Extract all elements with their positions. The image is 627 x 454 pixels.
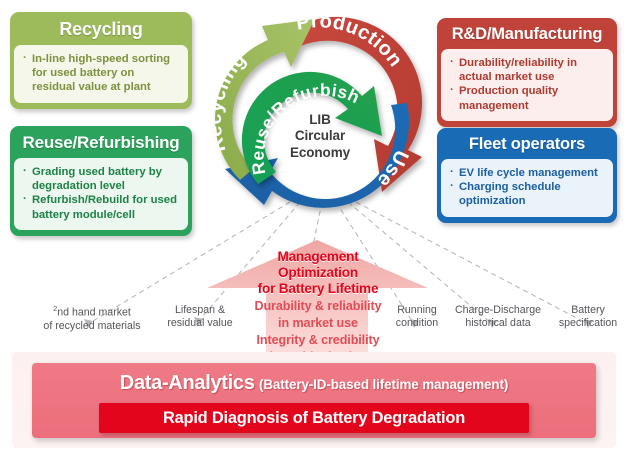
cycle-center-line-3: Economy (272, 145, 368, 161)
card-rnd-body: Durability/reliability in actual market … (441, 49, 613, 121)
card-recycling-header: Recycling (14, 16, 188, 45)
data-analytics-title: Data-Analytics (Battery-ID-based lifetim… (32, 372, 596, 395)
rapid-diagnosis-bar: Rapid Diagnosis of Battery Degradation (99, 403, 529, 433)
list-item: EV life cycle management (450, 166, 605, 180)
card-fleet-header: Fleet operators (441, 132, 613, 159)
card-rnd-manufacturing: R&D/Manufacturing Durability/reliability… (437, 18, 617, 127)
source-line-2: residual value (152, 317, 248, 330)
card-recycling: Recycling In-line high-speed sorting for… (10, 12, 192, 109)
list-item: Production quality management (450, 84, 605, 112)
management-sub-line-2: in market use (232, 316, 404, 331)
source-line-1: Running (384, 304, 450, 317)
source-line-1: Lifespan & (152, 304, 248, 317)
cycle-center-line-2: Circular (272, 128, 368, 144)
management-title-line-1: Management (232, 249, 404, 265)
source-line-1: Charge-Discharge (443, 304, 553, 317)
card-rnd-header: R&D/Manufacturing (441, 22, 613, 49)
list-item: Durability/reliability in actual market … (450, 56, 605, 84)
source-label-running-condition: Running condition (384, 304, 450, 330)
data-analytics-title-sub: (Battery-ID-based lifetime management) (259, 377, 508, 392)
list-item: Grading used battery by degradation leve… (23, 165, 180, 193)
management-title-line-3: for Battery Lifetime (232, 281, 404, 297)
diagram-canvas: Recycling In-line high-speed sorting for… (0, 0, 627, 454)
data-analytics-title-main: Data-Analytics (120, 372, 255, 394)
management-text-block: Management Optimization for Battery Life… (232, 249, 404, 366)
source-line-2: specification (552, 317, 624, 330)
source-line-1: 2nd hand market (22, 304, 162, 320)
source-label-battery-specification: Battery specification (552, 304, 624, 330)
management-sub-line-3: Integrity & credibility (232, 333, 404, 348)
source-line-2: historical data (443, 317, 553, 330)
data-analytics-panel: Data-Analytics (Battery-ID-based lifetim… (32, 363, 596, 438)
list-item: In-line high-speed sorting for used batt… (23, 52, 180, 95)
source-line-2: condition (384, 317, 450, 330)
source-label-2nd-hand-market: 2nd hand market of recycled materials (22, 304, 162, 333)
source-line-2: of recycled materials (22, 320, 162, 333)
source-line-1: Battery (552, 304, 624, 317)
cycle-center-line-1: LIB (272, 112, 368, 128)
management-title-line-2: Optimization (232, 265, 404, 281)
card-reuse-header: Reuse/Refurbishing (14, 130, 188, 158)
management-sub-line-1: Durability & reliability (232, 299, 404, 314)
source-label-charge-discharge: Charge-Discharge historical data (443, 304, 553, 330)
card-recycling-body: In-line high-speed sorting for used batt… (14, 45, 188, 103)
source-label-lifespan: Lifespan & residual value (152, 304, 248, 330)
cycle-center-label: LIB Circular Economy (272, 112, 368, 161)
